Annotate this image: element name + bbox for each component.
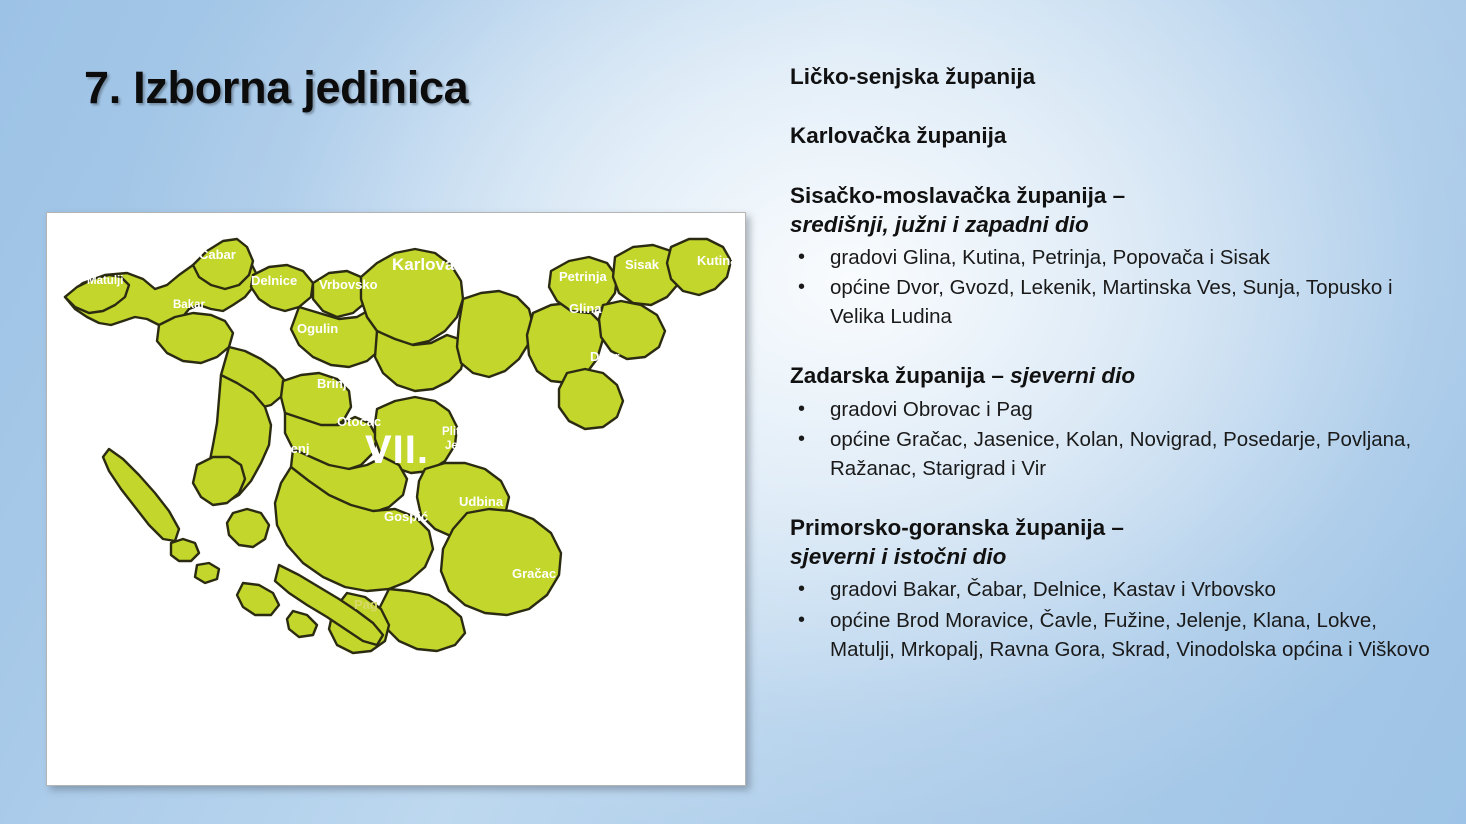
map-image-frame: Matulji Čabar Delnice Bakar Vrbovsko Ogu… bbox=[46, 212, 746, 786]
map-label-bakar: Bakar bbox=[173, 299, 205, 311]
county-heading-sisacko-moslavacka: Sisačko-moslavačka županija – središnji,… bbox=[790, 181, 1430, 240]
list-item: • općine Brod Moravice, Čavle, Fužine, J… bbox=[790, 606, 1430, 664]
counties-list: Ličko-senjska županija Karlovačka župani… bbox=[790, 62, 1430, 665]
croatia-electoral-unit-7-map: Matulji Čabar Delnice Bakar Vrbovsko Ogu… bbox=[47, 213, 745, 785]
bullet-glyph: • bbox=[798, 395, 805, 423]
bullet-glyph: • bbox=[798, 273, 805, 301]
map-label-unit-number: VII. bbox=[365, 428, 429, 472]
county-heading-main: Sisačko-moslavačka županija – bbox=[790, 183, 1125, 208]
map-label-udbina: Udbina bbox=[459, 494, 504, 509]
map-label-gospic: Gospić bbox=[384, 509, 428, 524]
map-label-pag: Pag bbox=[354, 597, 378, 612]
county-heading-main: Zadarska županija – bbox=[790, 363, 1010, 388]
bullet-glyph: • bbox=[798, 575, 805, 603]
county-heading-italic: središnji, južni i zapadni dio bbox=[790, 212, 1089, 237]
map-label-ogulin: Ogulin bbox=[297, 321, 338, 336]
list-item: • općine Gračac, Jasenice, Kolan, Novigr… bbox=[790, 425, 1430, 483]
map-label-sisak: Sisak bbox=[625, 257, 660, 272]
map-label-petrinja: Petrinja bbox=[559, 269, 607, 284]
county-heading-italic: sjeverni dio bbox=[1010, 363, 1135, 388]
map-label-senj: Senj bbox=[282, 441, 309, 456]
list-item-text: gradovi Bakar, Čabar, Delnice, Kastav i … bbox=[830, 578, 1276, 601]
map-label-plitvicka: Plitvička bbox=[442, 426, 489, 438]
map-label-gracac: Gračac bbox=[512, 566, 556, 581]
county-heading-karlovacka: Karlovačka županija bbox=[790, 121, 1430, 150]
county-heading-primorsko-goranska: Primorsko-goranska županija – sjeverni i… bbox=[790, 513, 1430, 572]
bullet-glyph: • bbox=[798, 425, 805, 453]
list-item-text: gradovi Glina, Kutina, Petrinja, Popovač… bbox=[830, 246, 1270, 269]
list-item-text: općine Brod Moravice, Čavle, Fužine, Jel… bbox=[830, 609, 1430, 661]
bullet-list-zadarska: • gradovi Obrovac i Pag • općine Gračac,… bbox=[790, 395, 1430, 483]
bullet-glyph: • bbox=[798, 606, 805, 634]
county-heading-licko-senjska: Ličko-senjska županija bbox=[790, 62, 1430, 91]
list-item-text: općine Gračac, Jasenice, Kolan, Novigrad… bbox=[830, 428, 1411, 480]
map-label-vrbovsko: Vrbovsko bbox=[319, 277, 378, 292]
map-label-otocac: Otočac bbox=[337, 414, 381, 429]
slide-root: 7. Izborna jedinica bbox=[0, 0, 1466, 824]
map-label-kutina: Kutina bbox=[697, 253, 738, 268]
page-title: 7. Izborna jedinica bbox=[84, 62, 468, 114]
bullet-list-primorsko-goranska: • gradovi Bakar, Čabar, Delnice, Kastav … bbox=[790, 575, 1430, 663]
list-item-text: općine Dvor, Gvozd, Lekenik, Martinska V… bbox=[830, 276, 1393, 328]
county-heading-main: Primorsko-goranska županija – bbox=[790, 515, 1124, 540]
list-item-text: gradovi Obrovac i Pag bbox=[830, 398, 1033, 421]
map-label-delnice: Delnice bbox=[251, 273, 297, 288]
list-item: • gradovi Glina, Kutina, Petrinja, Popov… bbox=[790, 243, 1430, 272]
map-label-karlovac: Karlovac bbox=[392, 255, 464, 274]
map-label-cabar: Čabar bbox=[199, 247, 236, 262]
bullet-list-sisacko-moslavacka: • gradovi Glina, Kutina, Petrinja, Popov… bbox=[790, 243, 1430, 331]
county-heading-zadarska: Zadarska županija – sjeverni dio bbox=[790, 361, 1430, 390]
list-item: • gradovi Obrovac i Pag bbox=[790, 395, 1430, 424]
map-label-jezera: Jezera bbox=[445, 440, 481, 452]
map-label-dvor: Dvor bbox=[590, 349, 620, 364]
map-label-glina: Glina bbox=[569, 301, 602, 316]
county-heading-main: Karlovačka županija bbox=[790, 123, 1006, 148]
list-item: • gradovi Bakar, Čabar, Delnice, Kastav … bbox=[790, 575, 1430, 604]
map-label-matulji: Matulji bbox=[87, 275, 123, 287]
county-heading-italic: sjeverni i istočni dio bbox=[790, 544, 1006, 569]
map-label-brinje: Brinje bbox=[317, 376, 354, 391]
county-heading-main: Ličko-senjska županija bbox=[790, 64, 1035, 89]
list-item: • općine Dvor, Gvozd, Lekenik, Martinska… bbox=[790, 273, 1430, 331]
bullet-glyph: • bbox=[798, 243, 805, 271]
